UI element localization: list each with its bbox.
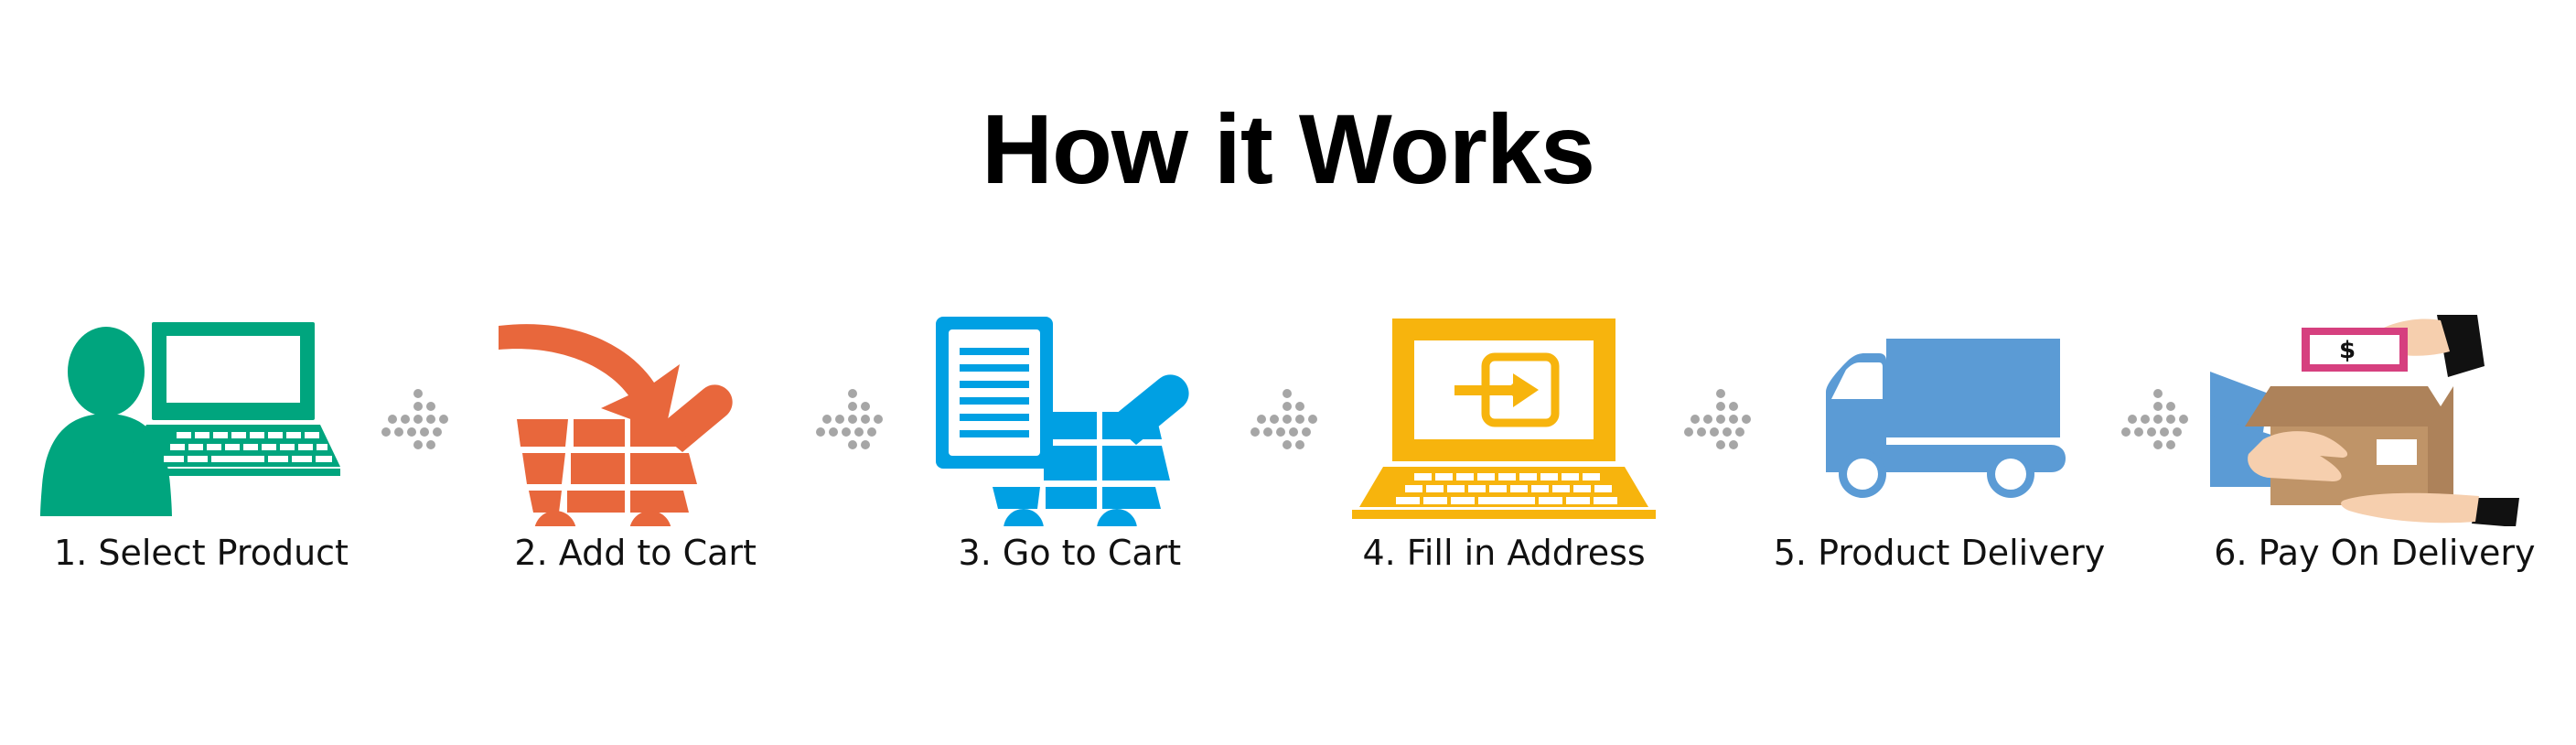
page-title: How it Works [0,99,2576,200]
laptop-login-icon [1339,311,1669,526]
step-label: 6. Pay On Delivery [2214,532,2535,574]
cash-hand-group: $ [2302,315,2485,377]
step-5-product-delivery[interactable]: 5. Product Delivery [1774,311,2105,574]
dollar-symbol: $ [2339,337,2356,364]
step-1-select-product[interactable]: 1. Select Product [37,311,366,574]
person-at-laptop-icon [37,311,366,526]
step-2-add-to-cart[interactable]: 2. Add to Cart [471,311,800,574]
step-label: 1. Select Product [54,532,349,574]
step-4-fill-in-address[interactable]: 4. Fill in Address [1339,311,1669,574]
infographic-page: How it Works [0,0,2576,745]
document-and-cart-icon [905,311,1234,526]
hands-box-cash-icon: $ [2210,311,2539,526]
receiving-hand [2341,493,2519,526]
steps-row: 1. Select Product [37,311,2539,604]
step-label: 2. Add to Cart [514,532,757,574]
dotted-arrow-right-icon [1248,311,1326,526]
step-6-pay-on-delivery[interactable]: $ [2210,311,2539,574]
shipping-label [2377,439,2417,465]
cart-with-arrow-icon [471,311,800,526]
step-3-go-to-cart[interactable]: 3. Go to Cart [905,311,1234,574]
dotted-arrow-right-icon [1681,311,1760,526]
dotted-arrow-right-icon [379,311,457,526]
step-label: 3. Go to Cart [959,532,1182,574]
delivery-truck-icon [1775,311,2104,526]
dotted-arrow-right-icon [2119,311,2197,526]
dotted-arrow-right-icon [813,311,892,526]
step-label: 5. Product Delivery [1774,532,2105,574]
step-label: 4. Fill in Address [1362,532,1645,574]
